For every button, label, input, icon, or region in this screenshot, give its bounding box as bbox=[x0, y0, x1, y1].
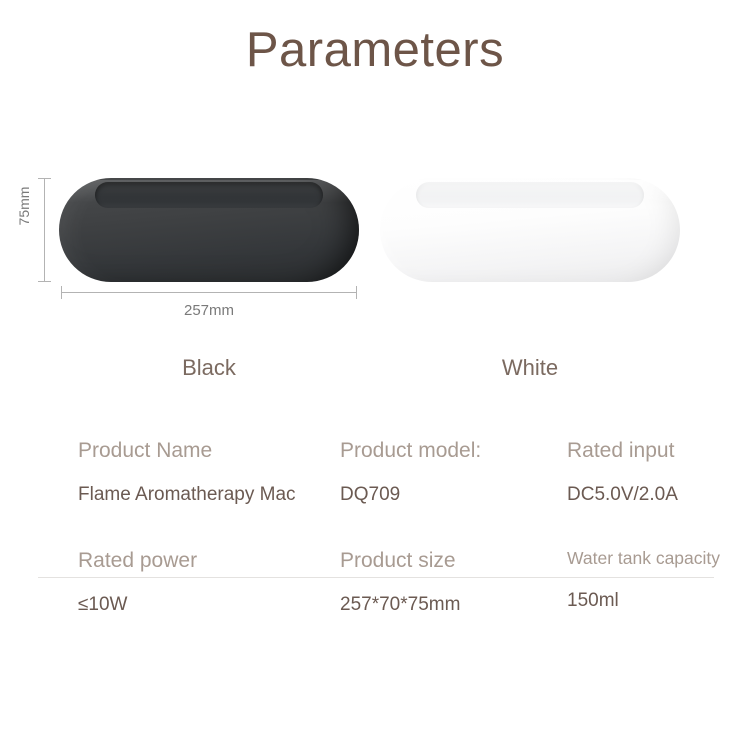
spec-label: Product Name bbox=[78, 438, 328, 463]
spec-label: Product model: bbox=[340, 438, 555, 463]
spec-label: Product size bbox=[340, 548, 555, 573]
spec-value: 257*70*75mm bbox=[340, 594, 555, 617]
product-showcase: 75mm 257mm Black White bbox=[0, 150, 750, 400]
page-title: Parameters bbox=[0, 24, 750, 78]
spec-value: DQ709 bbox=[340, 484, 555, 507]
product-image-black bbox=[59, 178, 359, 282]
device-top-slot bbox=[416, 182, 644, 208]
spec-label: Water tank capacity bbox=[567, 548, 747, 569]
spec-row: Product Name Flame Aromatherapy Mac Prod… bbox=[0, 438, 750, 548]
spec-value: Flame Aromatherapy Mac bbox=[78, 484, 328, 507]
color-caption-white: White bbox=[380, 355, 680, 381]
width-dimension-line bbox=[61, 292, 357, 293]
spec-cell-product-size: Product size 257*70*75mm bbox=[340, 548, 555, 617]
spec-cell-rated-power: Rated power ≤10W bbox=[78, 548, 328, 617]
height-dimension-label: 75mm bbox=[16, 176, 32, 236]
spec-label: Rated power bbox=[78, 548, 328, 573]
product-image-white bbox=[380, 178, 680, 282]
spec-row: Rated power ≤10W Product size 257*70*75m… bbox=[0, 548, 750, 658]
spec-value: 150ml bbox=[567, 590, 747, 613]
spec-value: DC5.0V/2.0A bbox=[567, 484, 747, 507]
spec-cell-water-tank-capacity: Water tank capacity 150ml bbox=[567, 548, 747, 613]
spec-value: ≤10W bbox=[78, 594, 328, 617]
width-dimension-label: 257mm bbox=[61, 302, 357, 319]
spec-table: Product Name Flame Aromatherapy Mac Prod… bbox=[0, 438, 750, 658]
height-dimension-line bbox=[44, 178, 45, 282]
spec-label: Rated input bbox=[567, 438, 747, 463]
spec-cell-product-model: Product model: DQ709 bbox=[340, 438, 555, 507]
spec-cell-product-name: Product Name Flame Aromatherapy Mac bbox=[78, 438, 328, 507]
spec-cell-rated-input: Rated input DC5.0V/2.0A bbox=[567, 438, 747, 507]
device-top-slot bbox=[95, 182, 323, 208]
color-caption-black: Black bbox=[59, 355, 359, 381]
